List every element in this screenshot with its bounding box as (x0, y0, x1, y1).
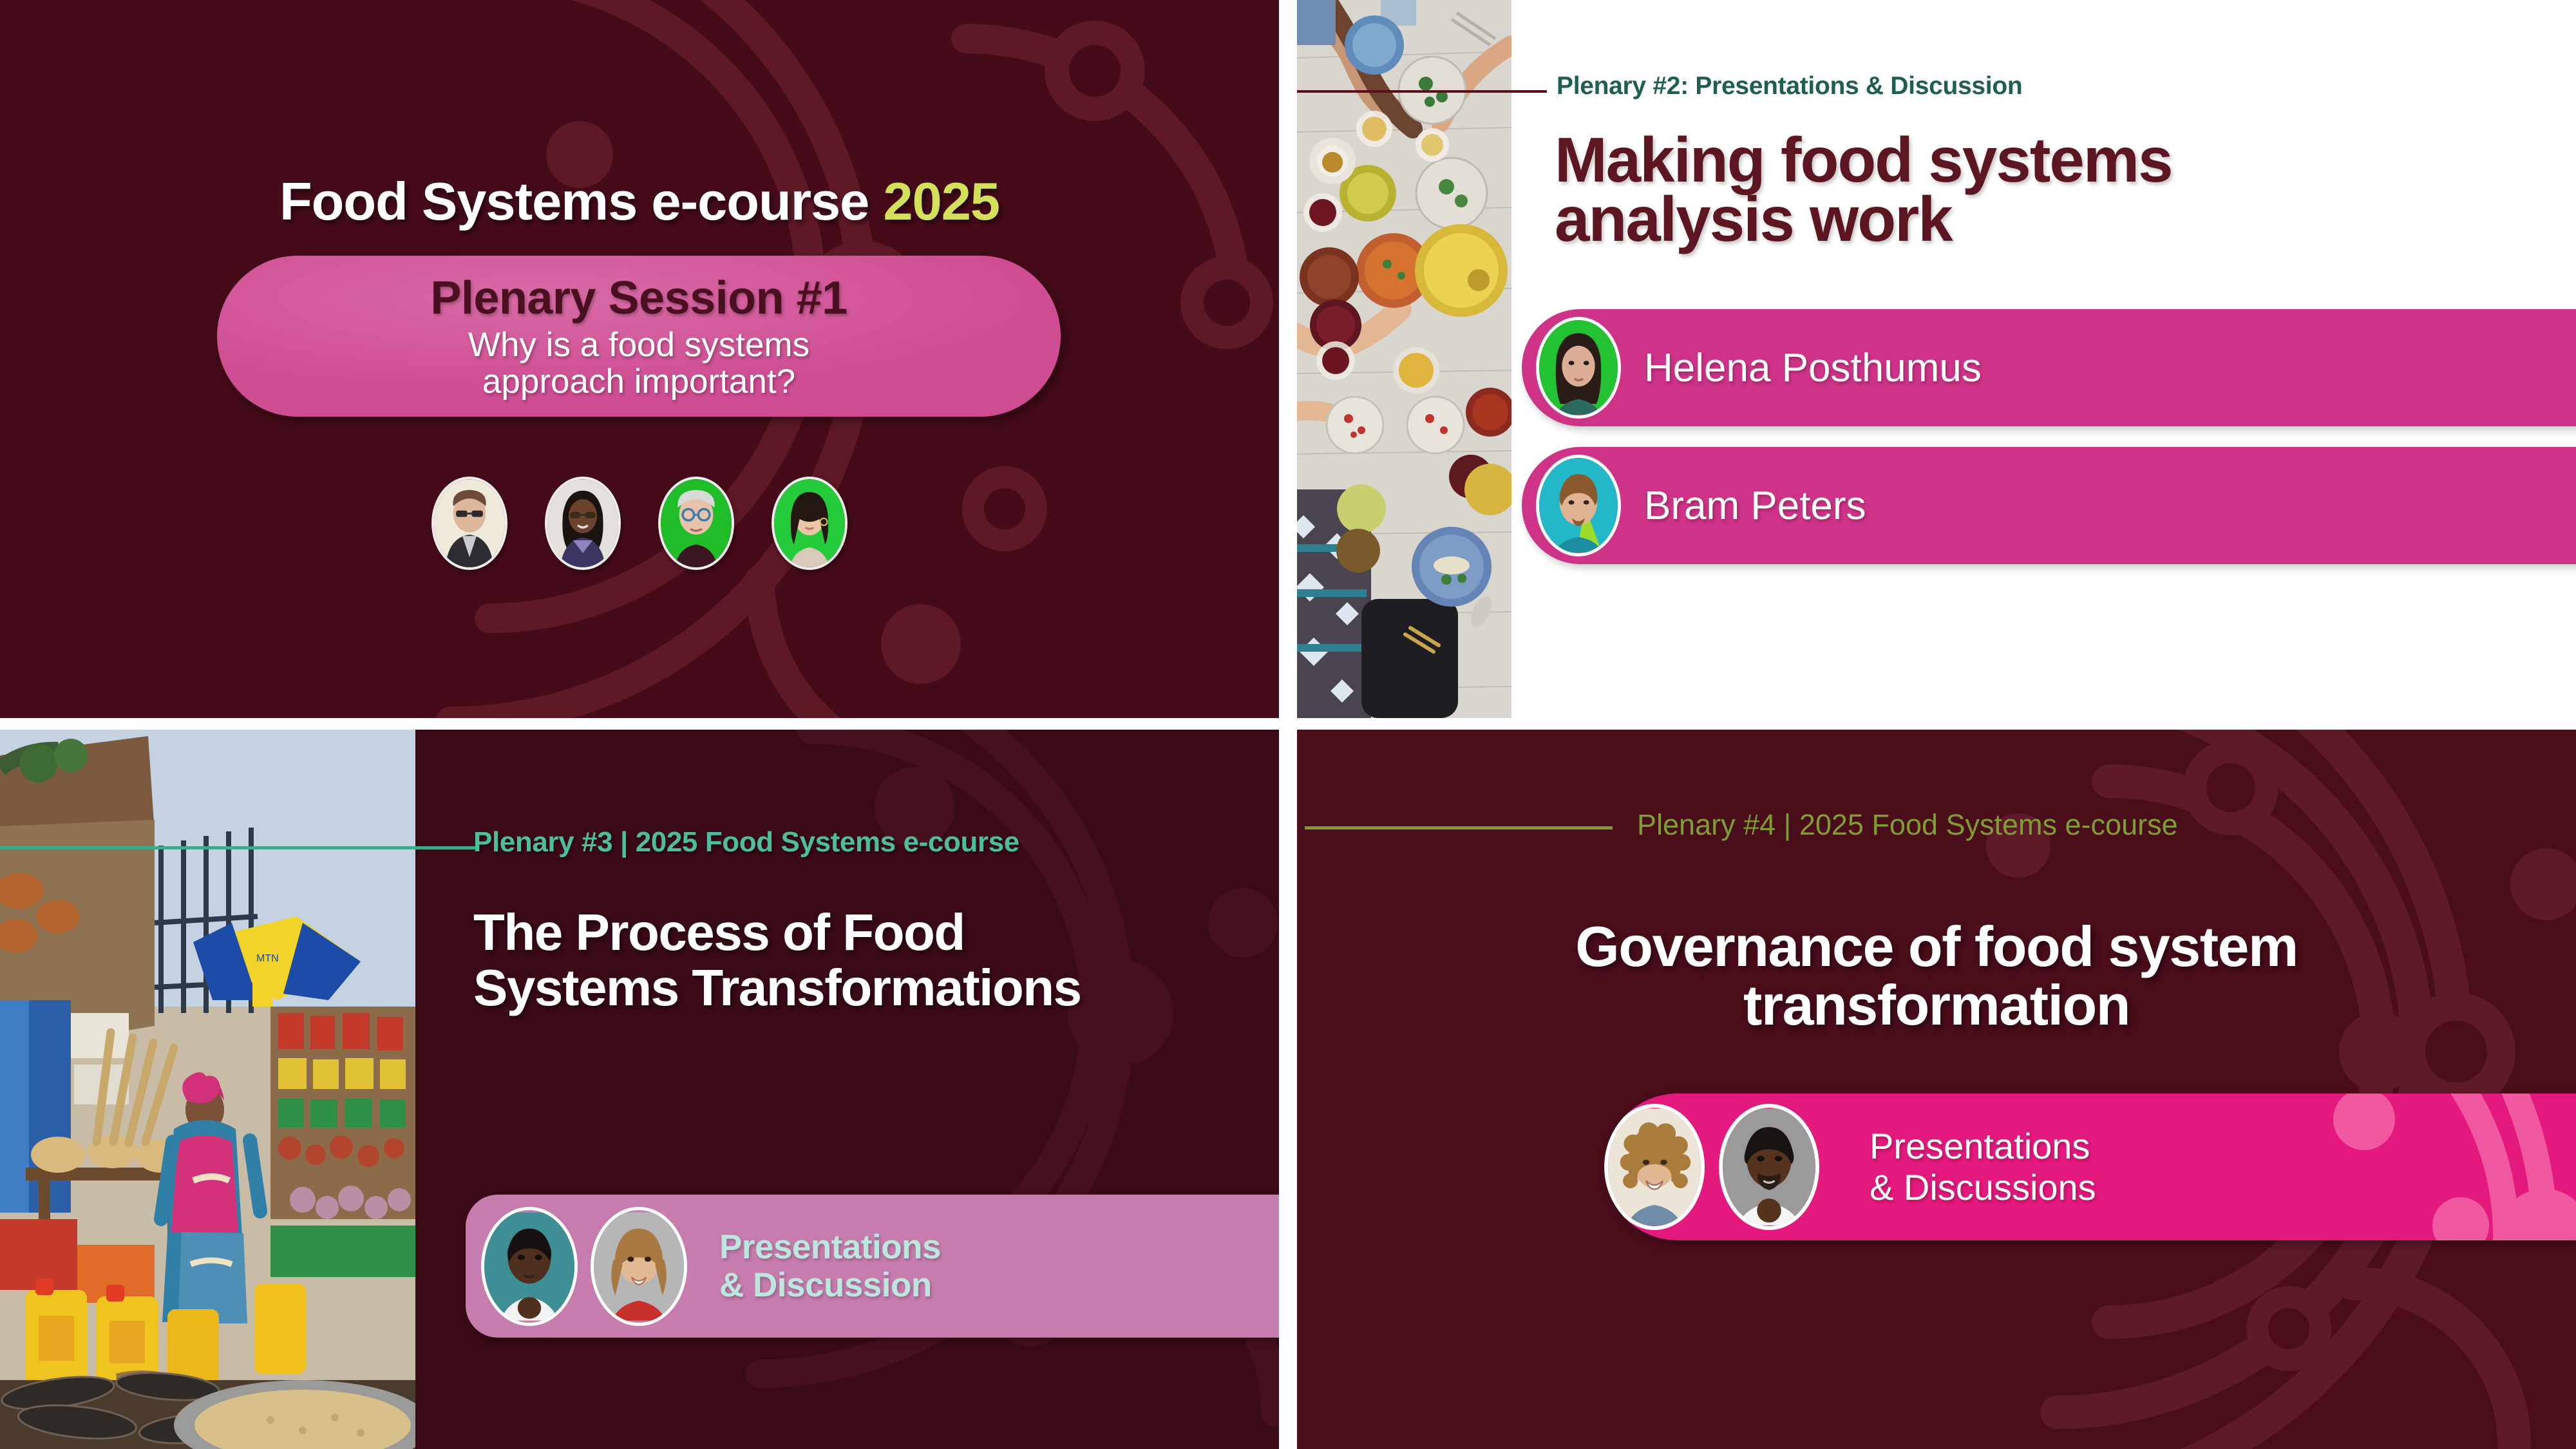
panel-title-line2: Systems Transformations (473, 960, 1246, 1016)
band-label-line2: & Discussion (719, 1266, 941, 1304)
panel-title-line2: transformation (1368, 976, 2505, 1035)
band-label: Presentations & Discussions (1870, 1126, 2096, 1208)
avatar (1719, 1104, 1819, 1230)
session-pill-title: Plenary Session #1 (430, 272, 847, 325)
avatar (1536, 317, 1621, 419)
presentations-band: Presentations & Discussion (466, 1195, 1279, 1338)
panel-title-line1: Making food systems (1555, 130, 2508, 189)
speaker-name: Bram Peters (1644, 483, 1866, 529)
panel-title-line2: analysis work (1555, 189, 2508, 249)
session-pill-subtitle: Why is a food systems approach important… (468, 327, 810, 400)
avatar (591, 1207, 687, 1326)
kicker-rule (0, 846, 477, 849)
panel-plenary-1: Food Systems e-course 2025 Plenary Sessi… (0, 0, 1279, 718)
panel-title-line1: Governance of food system (1368, 918, 2505, 976)
session-pill-subtitle-line1: Why is a food systems (468, 327, 810, 364)
course-title-main: Food Systems e-course (279, 171, 869, 231)
band-label-line1: Presentations (719, 1228, 941, 1266)
band-label: Presentations & Discussion (719, 1228, 941, 1305)
course-title-year: 2025 (883, 171, 999, 231)
avatar (772, 477, 848, 570)
avatar (545, 477, 621, 570)
panel-plenary-3: MTN (0, 730, 1279, 1449)
session-pill: Plenary Session #1 Why is a food systems… (217, 256, 1061, 417)
speaker-name: Helena Posthumus (1644, 345, 1982, 391)
avatar (431, 477, 507, 570)
session-pill-subtitle-line2: approach important? (468, 364, 810, 401)
avatar (1604, 1104, 1705, 1230)
avatar (1536, 455, 1621, 556)
kicker-rule (1305, 826, 1613, 829)
avatar (481, 1207, 578, 1326)
course-title: Food Systems e-course 2025 (0, 171, 1279, 232)
shared-dinner-table-photo-icon (1297, 0, 1511, 718)
speaker-bar: Helena Posthumus (1522, 309, 2576, 426)
slide-grid: Food Systems e-course 2025 Plenary Sessi… (0, 0, 2576, 1449)
panel-kicker: Plenary #4 | 2025 Food Systems e-course (1637, 808, 2178, 842)
panel-plenary-2: Plenary #2: Presentations & Discussion M… (1297, 0, 2576, 718)
panel-plenary-4: Plenary #4 | 2025 Food Systems e-course … (1297, 730, 2576, 1449)
panel-title: Governance of food system transformation (1297, 918, 2576, 1034)
panel-title: The Process of Food Systems Transformati… (473, 905, 1246, 1015)
speaker-avatar-row (0, 477, 1279, 570)
presentations-band: Presentations & Discussions (1604, 1094, 2576, 1240)
kicker-rule (1297, 90, 1547, 93)
band-label-line1: Presentations (1870, 1126, 2096, 1167)
panel-kicker: Plenary #3 | 2025 Food Systems e-course (473, 826, 1019, 858)
panel-kicker: Plenary #2: Presentations & Discussion (1557, 72, 2022, 100)
panel-title-line1: The Process of Food (473, 905, 1246, 960)
avatar (658, 477, 734, 570)
band-label-line2: & Discussions (1870, 1167, 2096, 1208)
panel-title: Making food systems analysis work (1555, 130, 2508, 249)
speaker-bar: Bram Peters (1522, 447, 2576, 564)
